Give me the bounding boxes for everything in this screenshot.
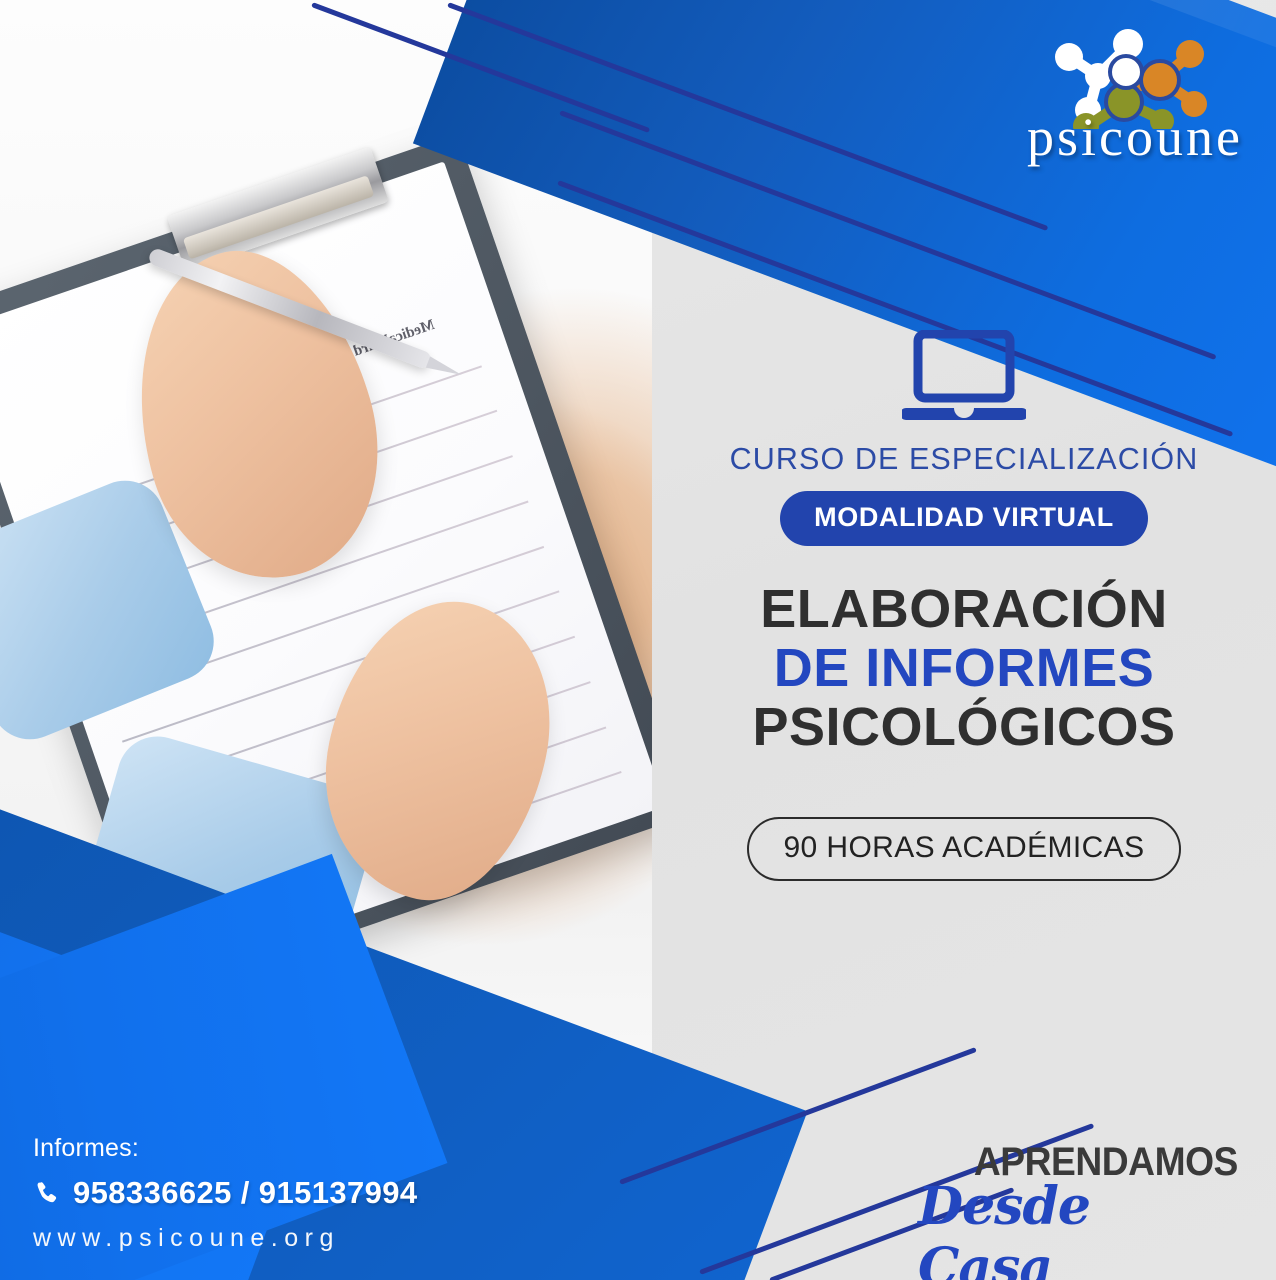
hours-badge: 90 HORAS ACADÉMICAS <box>747 817 1180 881</box>
modality-badge: MODALIDAD VIRTUAL <box>780 491 1148 546</box>
page-title: ELABORACIÓN DE INFORMES PSICOLÓGICOS <box>752 580 1175 757</box>
contact-website[interactable]: www.psicoune.org <box>33 1224 418 1253</box>
title-line-3: PSICOLÓGICOS <box>752 698 1175 757</box>
slogan-block: APRENDAMOS Desde Casa <box>918 1140 1238 1250</box>
promo-poster: Medical card <box>0 0 1276 1280</box>
slogan-line-2: Desde Casa <box>918 1176 1230 1280</box>
title-line-1: ELABORACIÓN <box>752 580 1175 639</box>
course-kicker: CURSO DE ESPECIALIZACIÓN <box>730 442 1199 477</box>
contact-block: Informes: 958336625 / 915137994 www.psic… <box>33 1134 418 1253</box>
laptop-icon <box>902 330 1026 422</box>
contact-label: Informes: <box>33 1134 418 1163</box>
contact-phone-numbers: 958336625 / 915137994 <box>73 1175 418 1211</box>
title-line-2: DE INFORMES <box>752 639 1175 698</box>
phone-icon <box>33 1180 60 1207</box>
contact-phone-row[interactable]: 958336625 / 915137994 <box>33 1175 418 1211</box>
promo-content: CURSO DE ESPECIALIZACIÓN MODALIDAD VIRTU… <box>652 0 1276 1280</box>
